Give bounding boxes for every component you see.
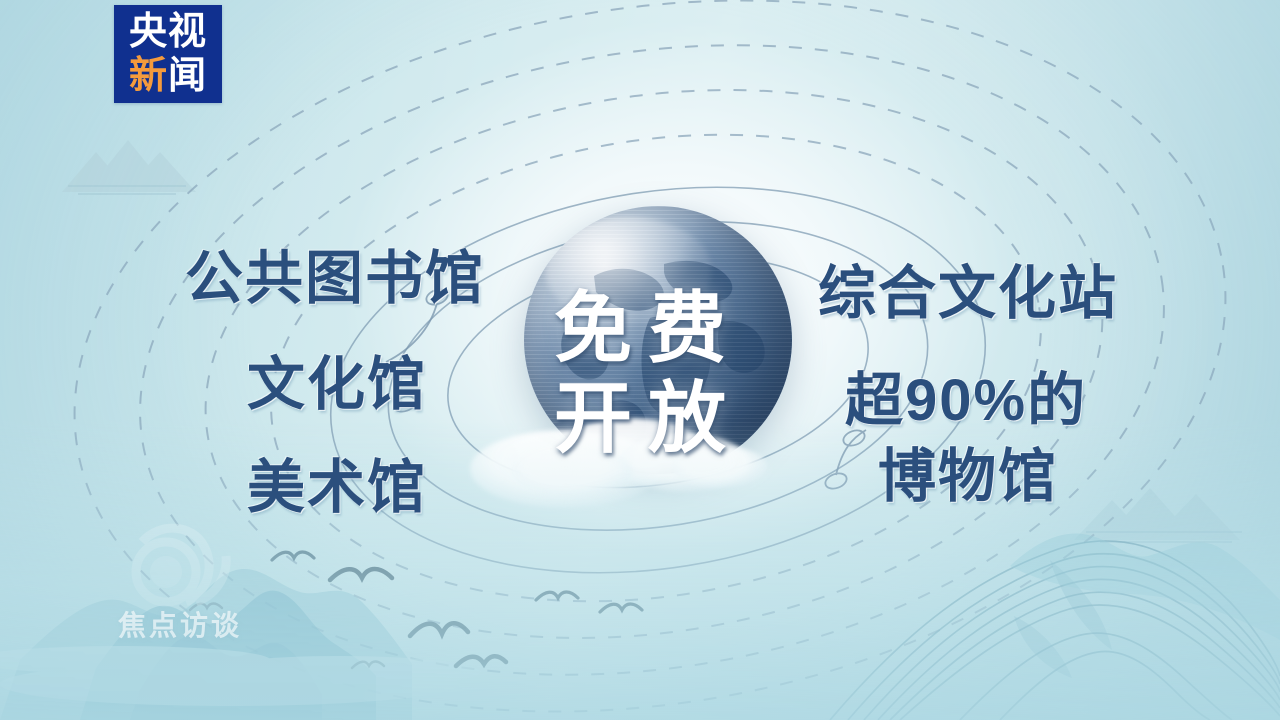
logo-char-xin: 新 — [129, 55, 168, 97]
headline-line-open: 开放 — [0, 356, 1280, 468]
logo-char-wen: 闻 — [168, 55, 207, 97]
logo-line-yangshi: 央视 — [129, 10, 207, 54]
program-watermark: 焦点访谈 — [118, 604, 242, 644]
logo-line-xinwen: 新闻 — [129, 54, 207, 98]
broadcast-graphic-frame: 央视 新闻 公共图书馆 文化馆 美术馆 综合文化站 超90%的 博物馆 免费 开… — [0, 0, 1280, 720]
cctv-news-logo: 央视 新闻 — [114, 5, 222, 103]
